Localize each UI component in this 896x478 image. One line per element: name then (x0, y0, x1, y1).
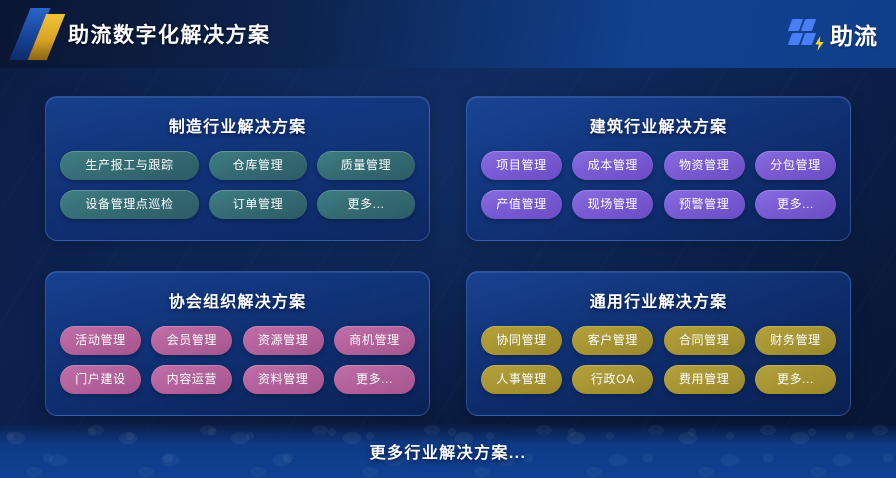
brand-shard-2 (801, 19, 816, 31)
solution-pill[interactable]: 质量管理 (317, 151, 415, 180)
solution-card-construction[interactable]: 建筑行业解决方案项目管理成本管理物资管理分包管理产值管理现场管理预警管理更多..… (466, 96, 851, 241)
solution-pill[interactable]: 订单管理 (209, 190, 307, 219)
solution-pill[interactable]: 更多... (317, 190, 415, 219)
solution-pill[interactable]: 费用管理 (664, 365, 745, 394)
page-footer: 更多行业解决方案... (0, 424, 896, 478)
pill-row: 产值管理现场管理预警管理更多... (481, 190, 836, 219)
solution-pill[interactable]: 门户建设 (60, 365, 141, 394)
pill-row: 设备管理点巡检订单管理更多... (60, 190, 415, 219)
solution-pill[interactable]: 资料管理 (243, 365, 324, 394)
solution-card-association[interactable]: 协会组织解决方案活动管理会员管理资源管理商机管理门户建设内容运营资料管理更多..… (45, 271, 430, 416)
solution-pill[interactable]: 仓库管理 (209, 151, 307, 180)
solution-pill[interactable]: 协同管理 (481, 326, 562, 355)
brand-wordmark: 助流 (830, 17, 878, 51)
solution-pill[interactable]: 行政OA (572, 365, 653, 394)
solution-pill[interactable]: 现场管理 (572, 190, 653, 219)
solution-pill[interactable]: 分包管理 (755, 151, 836, 180)
solution-pill[interactable]: 资源管理 (243, 326, 324, 355)
zhuliu-parallelogram-logo (14, 6, 66, 62)
solution-pill[interactable]: 合同管理 (664, 326, 745, 355)
solution-pill[interactable]: 预警管理 (664, 190, 745, 219)
pill-row: 活动管理会员管理资源管理商机管理 (60, 326, 415, 355)
pill-row: 项目管理成本管理物资管理分包管理 (481, 151, 836, 180)
page-header: 助流数字化解决方案 助流 (0, 0, 896, 68)
lightning-bolt-icon (814, 36, 825, 51)
card-title: 协会组织解决方案 (46, 288, 429, 312)
solution-pill[interactable]: 成本管理 (572, 151, 653, 180)
solution-pill[interactable]: 更多... (755, 190, 836, 219)
page-title: 助流数字化解决方案 (68, 19, 271, 49)
solution-pill[interactable]: 会员管理 (151, 326, 232, 355)
brand-shard-4 (801, 33, 816, 45)
solution-card-general[interactable]: 通用行业解决方案协同管理客户管理合同管理财务管理人事管理行政OA费用管理更多..… (466, 271, 851, 416)
solution-pill[interactable]: 项目管理 (481, 151, 562, 180)
solution-pill[interactable]: 财务管理 (755, 326, 836, 355)
card-title: 制造行业解决方案 (46, 113, 429, 137)
solution-pill[interactable]: 人事管理 (481, 365, 562, 394)
solution-pill[interactable]: 活动管理 (60, 326, 141, 355)
zhuliu-brand-logo: 助流 (789, 17, 878, 51)
card-title: 通用行业解决方案 (467, 288, 850, 312)
card-pill-rows: 项目管理成本管理物资管理分包管理产值管理现场管理预警管理更多... (467, 151, 850, 219)
solution-pill[interactable]: 更多... (334, 365, 415, 394)
card-title: 建筑行业解决方案 (467, 113, 850, 137)
solution-pill[interactable]: 物资管理 (664, 151, 745, 180)
pill-row: 生产报工与跟踪仓库管理质量管理 (60, 151, 415, 180)
pill-row: 门户建设内容运营资料管理更多... (60, 365, 415, 394)
pill-row: 人事管理行政OA费用管理更多... (481, 365, 836, 394)
solution-pill[interactable]: 客户管理 (572, 326, 653, 355)
solution-card-manufacturing[interactable]: 制造行业解决方案生产报工与跟踪仓库管理质量管理设备管理点巡检订单管理更多... (45, 96, 430, 241)
solution-pill[interactable]: 更多... (755, 365, 836, 394)
card-pill-rows: 活动管理会员管理资源管理商机管理门户建设内容运营资料管理更多... (46, 326, 429, 394)
solution-pill[interactable]: 商机管理 (334, 326, 415, 355)
solution-overview-page: 助流数字化解决方案 助流 制造行业解决方案生产报工与跟踪仓库管理质量管理设备管理… (0, 0, 896, 478)
brand-mark-icon (789, 18, 823, 50)
solution-pill[interactable]: 生产报工与跟踪 (60, 151, 199, 180)
footer-label: 更多行业解决方案... (370, 439, 527, 463)
card-pill-rows: 协同管理客户管理合同管理财务管理人事管理行政OA费用管理更多... (467, 326, 850, 394)
solution-pill[interactable]: 内容运营 (151, 365, 232, 394)
pill-row: 协同管理客户管理合同管理财务管理 (481, 326, 836, 355)
solution-card-grid: 制造行业解决方案生产报工与跟踪仓库管理质量管理设备管理点巡检订单管理更多...建… (45, 96, 851, 416)
solution-pill[interactable]: 产值管理 (481, 190, 562, 219)
solution-pill[interactable]: 设备管理点巡检 (60, 190, 199, 219)
card-pill-rows: 生产报工与跟踪仓库管理质量管理设备管理点巡检订单管理更多... (46, 151, 429, 219)
